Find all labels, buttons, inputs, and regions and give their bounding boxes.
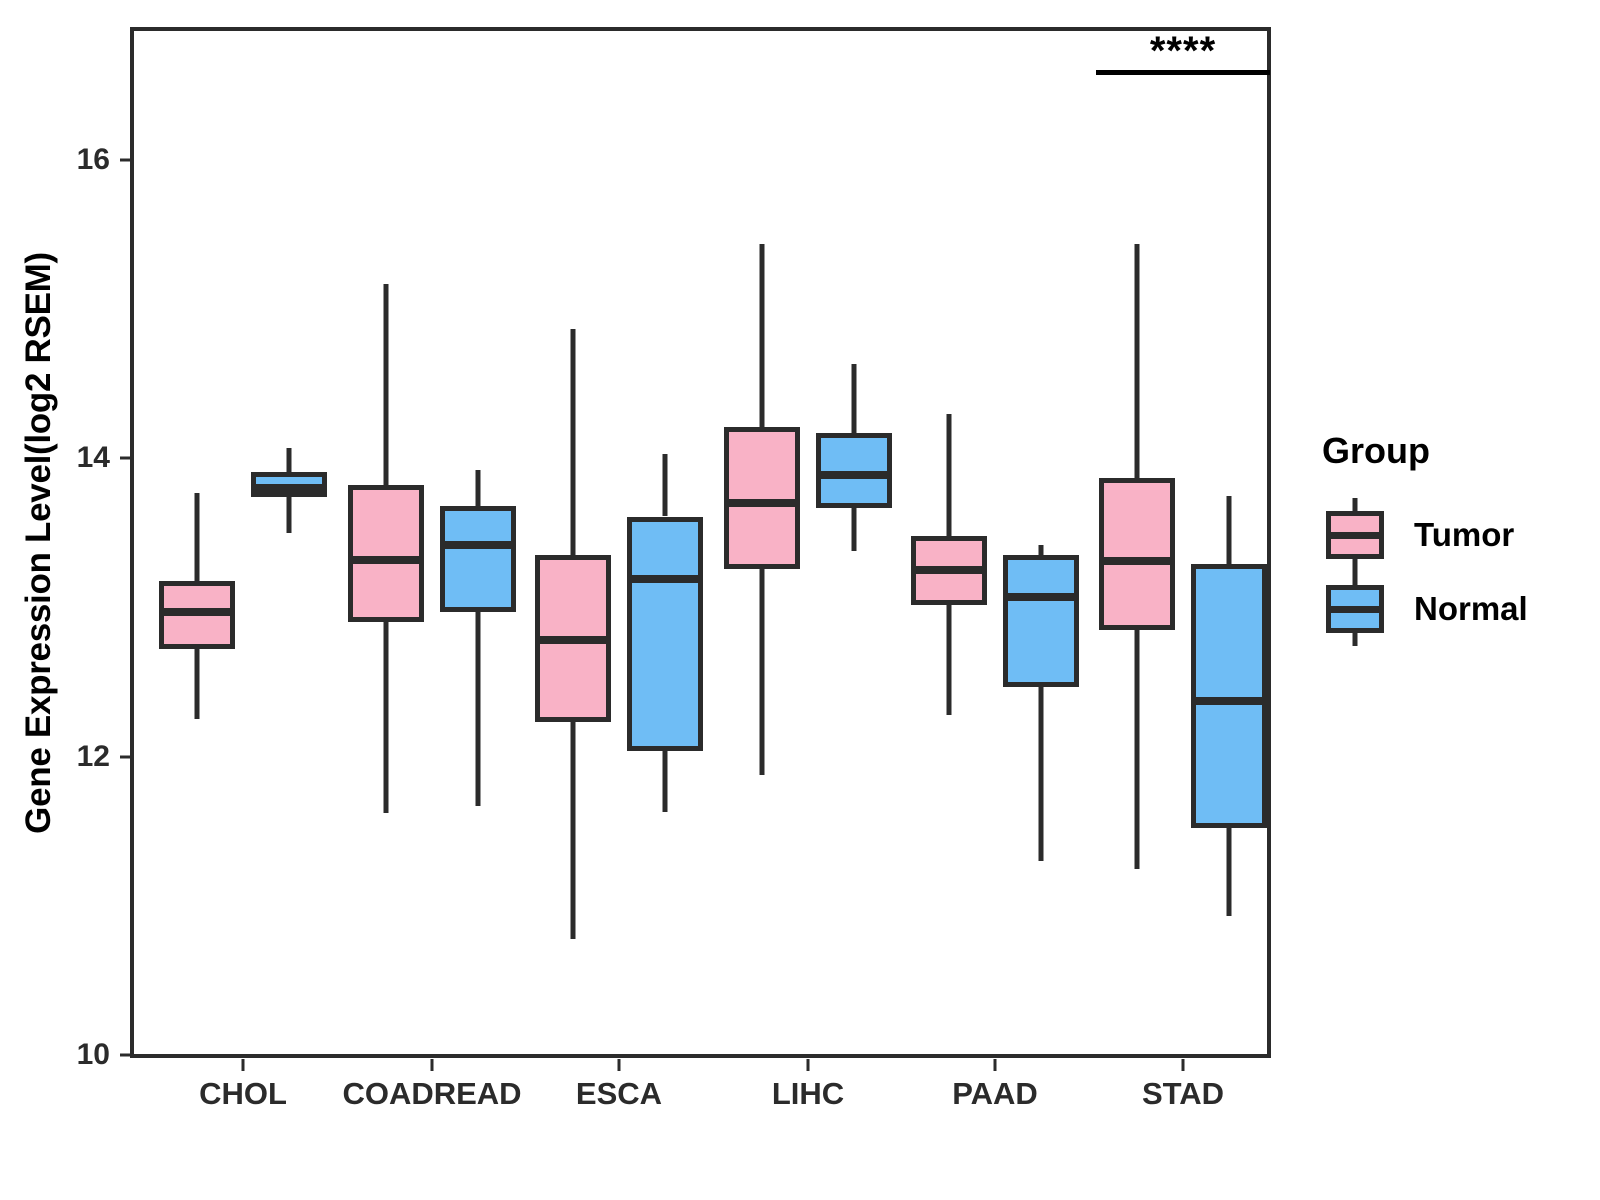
x-axis-tick-label: ESCA <box>576 1076 662 1112</box>
legend-title: Group <box>1322 430 1592 472</box>
significance-stars: **** <box>1150 31 1216 71</box>
x-axis-tick-mark <box>807 1059 810 1071</box>
legend-label-normal: Normal <box>1414 590 1528 628</box>
x-axis-tick-label: LIHC <box>772 1076 844 1112</box>
plot-panel <box>130 27 1271 1058</box>
x-axis-tick-label: STAD <box>1142 1076 1224 1112</box>
y-axis-tick-label: 16 <box>52 143 110 177</box>
legend-whisker-bottom-icon <box>1353 631 1358 646</box>
x-axis-tick-mark <box>1182 1059 1185 1071</box>
x-axis-tick-mark <box>242 1059 245 1071</box>
x-axis-tick-label: CHOL <box>199 1076 287 1112</box>
chart-root: Gene Expression Level(log2 RSEM) 1012141… <box>0 0 1600 1200</box>
legend-whisker-bottom-icon <box>1353 557 1358 572</box>
y-axis-tick-label: 10 <box>52 1038 110 1072</box>
x-axis-tick-label: COADREAD <box>342 1076 521 1112</box>
legend-median-tumor-icon <box>1326 532 1384 539</box>
y-axis-tick-label: 14 <box>52 441 110 475</box>
legend-label-tumor: Tumor <box>1414 516 1514 554</box>
legend-item-normal[interactable]: Normal <box>1322 572 1592 646</box>
legend-median-normal-icon <box>1326 606 1384 613</box>
x-axis-tick-mark <box>618 1059 621 1071</box>
x-axis-tick-mark <box>431 1059 434 1071</box>
x-axis-tick-mark <box>994 1059 997 1071</box>
y-axis-tick-label: 12 <box>52 740 110 774</box>
legend-key-normal <box>1322 572 1388 646</box>
legend: Group Tumor Normal <box>1322 430 1592 646</box>
legend-item-tumor[interactable]: Tumor <box>1322 498 1592 572</box>
legend-key-tumor <box>1322 498 1388 572</box>
y-axis-tick-labels: 10121416 <box>52 0 110 1200</box>
x-axis-tick-label: PAAD <box>952 1076 1038 1112</box>
